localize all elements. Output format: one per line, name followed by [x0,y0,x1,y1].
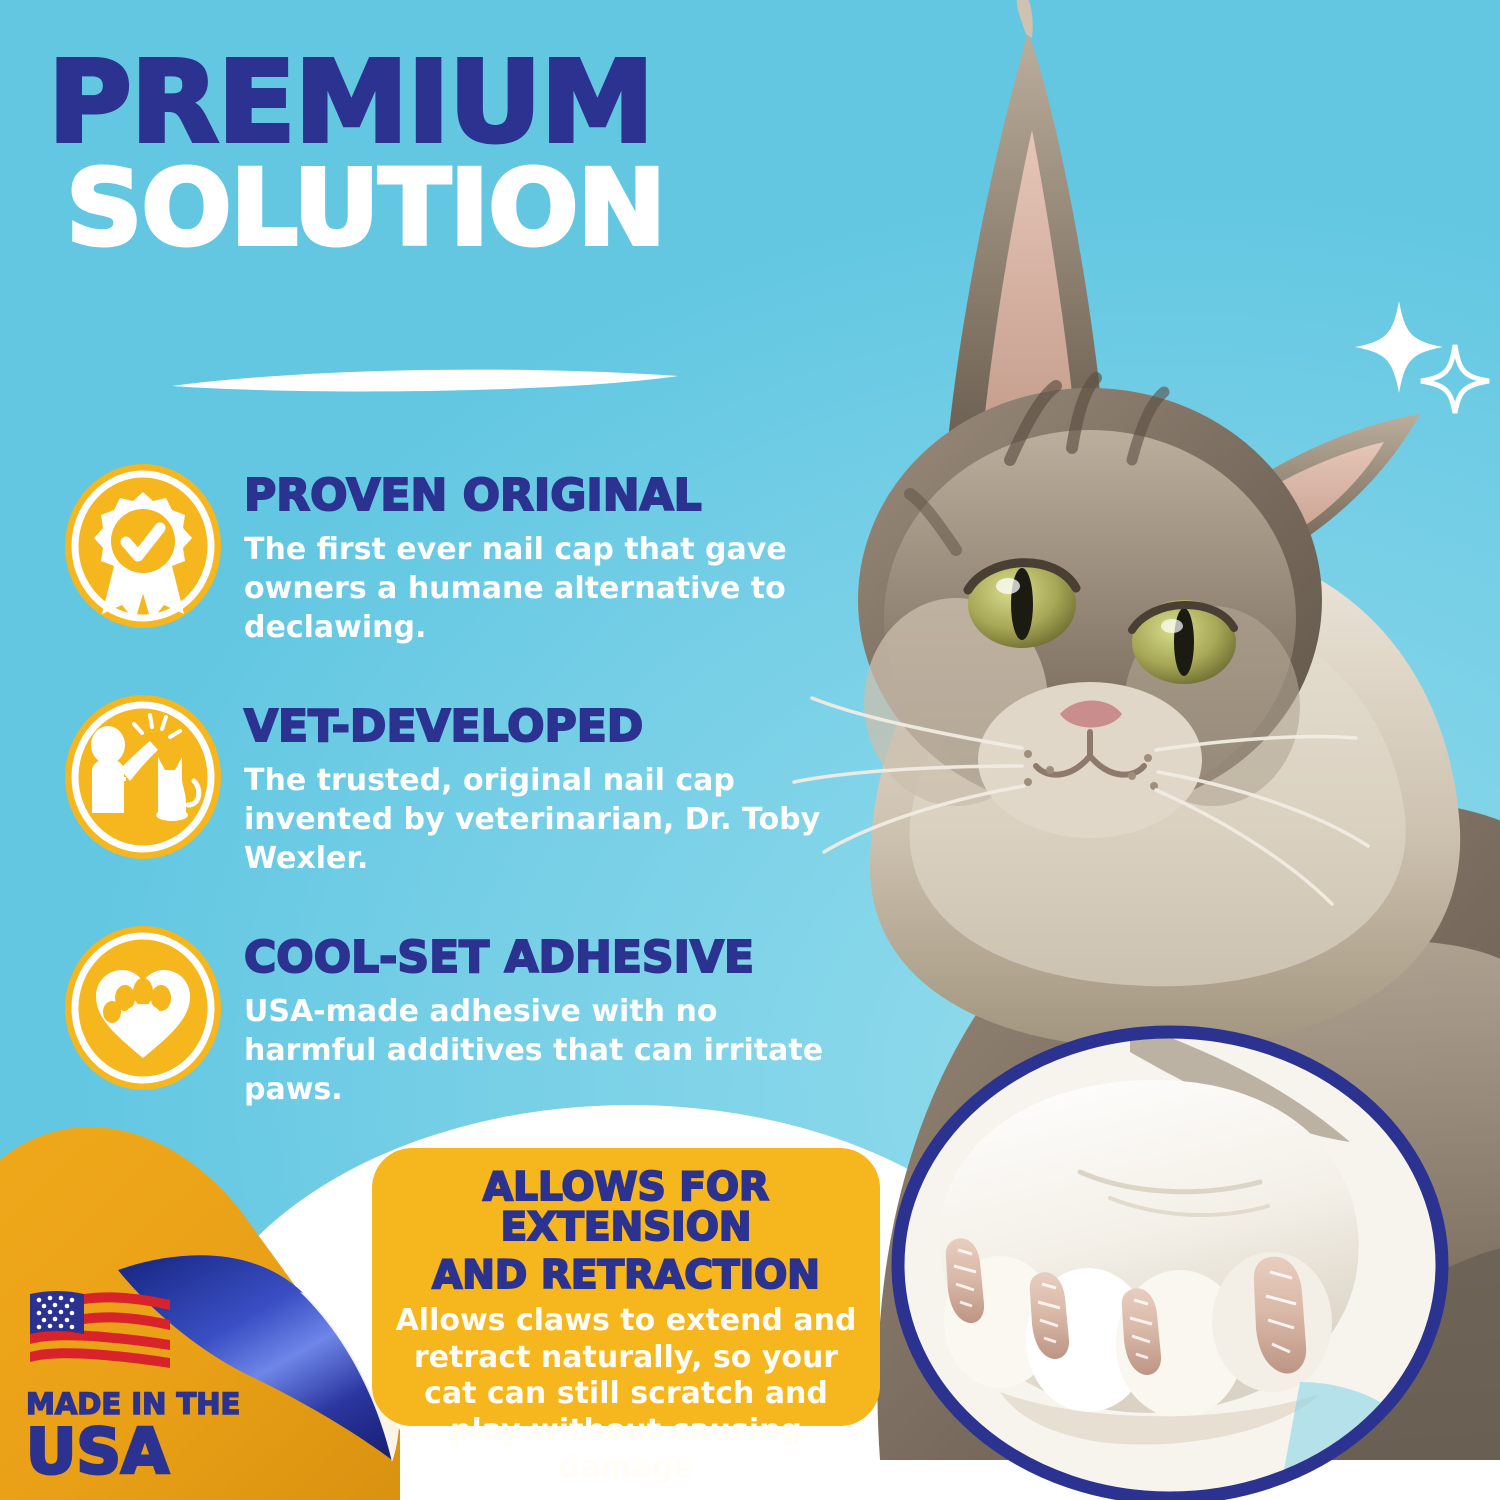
infographic-canvas: PREMIUM SOLUTION [0,0,1500,1500]
list-item: VET-DEVELOPED The trusted, original nail… [62,693,852,878]
sparkle-outline-icon [1421,345,1489,413]
feature-body: The trusted, original nail cap invented … [244,761,852,878]
feature-body: The first ever nail cap that gave owners… [244,530,852,647]
extension-retraction-callout: ALLOWS FOR EXTENSION AND RETRACTION Allo… [372,1148,880,1426]
sparkles-group [1355,295,1495,415]
headline-line-2: SOLUTION [66,159,864,258]
feature-title: COOL-SET ADHESIVE [244,936,852,980]
list-item: COOL-SET ADHESIVE USA-made adhesive with… [62,924,852,1109]
swoosh-divider [170,362,680,396]
headline-line-1: PREMIUM [48,52,864,155]
callout-title-line-2: AND RETRACTION [390,1256,862,1296]
award-ribbon-icon [62,462,224,630]
callout-body: Allows claws to extend and retract natur… [390,1303,862,1486]
page-title: PREMIUM SOLUTION [48,52,848,258]
made-in-usa-badge: MADE IN THE USA [26,1286,266,1482]
feature-body: USA-made adhesive with no harmful additi… [244,992,852,1109]
feature-list: PROVEN ORIGINAL The first ever nail cap … [62,462,852,1155]
heart-paw-icon [62,924,224,1092]
cat-paw-with-nail-caps-photo [880,1022,1480,1500]
feature-title: VET-DEVELOPED [244,705,852,749]
feature-title: PROVEN ORIGINAL [244,474,852,518]
vet-high-five-cat-icon [62,693,224,861]
callout-title-line-1: ALLOWS FOR EXTENSION [390,1168,862,1248]
usa-flag-icon [26,1286,174,1382]
made-in-usa-line-2: USA [26,1423,266,1482]
list-item: PROVEN ORIGINAL The first ever nail cap … [62,462,852,647]
